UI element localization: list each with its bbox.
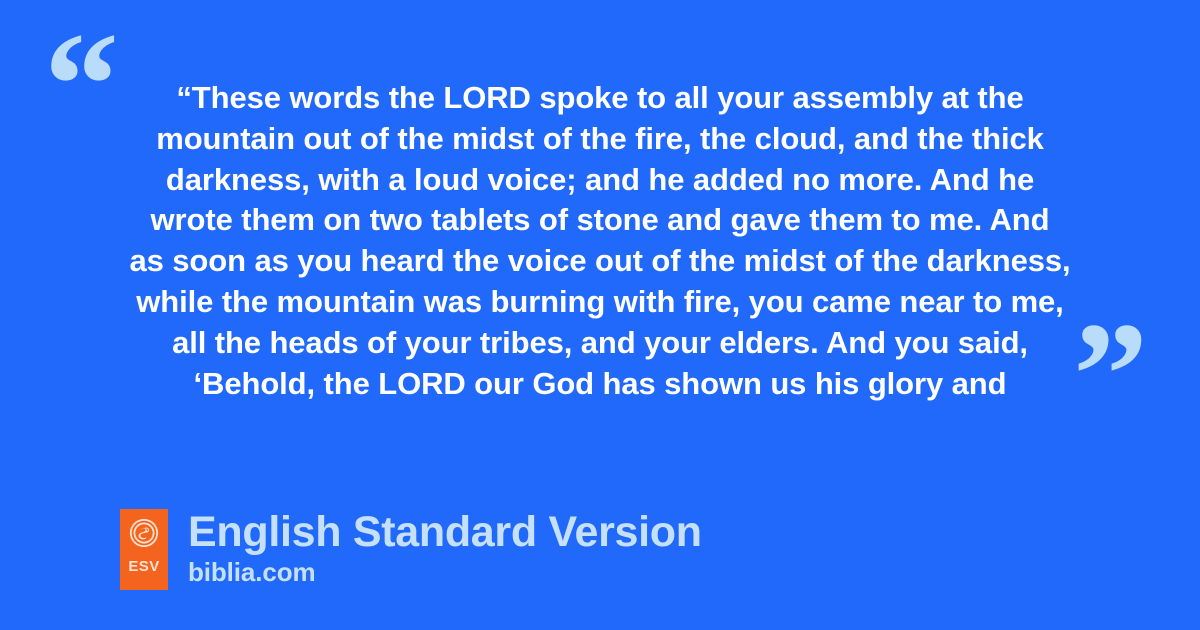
verse-line: wrote them on two tablets of stone and g… — [100, 200, 1100, 241]
attribution-text-group: English Standard Version biblia.com — [188, 509, 702, 586]
verse-line: ‘Behold, the LORD our God has shown us h… — [100, 364, 1100, 405]
esv-seal-icon — [129, 518, 159, 548]
attribution-block: ESV English Standard Version biblia.com — [120, 509, 702, 590]
verse-line: “These words the LORD spoke to all your … — [100, 78, 1100, 119]
verse-line: all the heads of your tribes, and your e… — [100, 323, 1100, 364]
site-url-label: biblia.com — [188, 558, 702, 586]
bible-verse-card: “ ” “These words the LORD spoke to all y… — [0, 0, 1200, 630]
verse-line: while the mountain was burning with fire… — [100, 282, 1100, 323]
verse-text-block: “These words the LORD spoke to all your … — [100, 78, 1100, 404]
verse-line: mountain out of the midst of the fire, t… — [100, 119, 1100, 160]
bible-version-name: English Standard Version — [188, 509, 702, 555]
verse-line: as soon as you heard the voice out of th… — [100, 241, 1100, 282]
esv-abbreviation-label: ESV — [128, 559, 159, 574]
esv-logo: ESV — [120, 509, 168, 590]
verse-line: darkness, with a loud voice; and he adde… — [100, 160, 1100, 201]
